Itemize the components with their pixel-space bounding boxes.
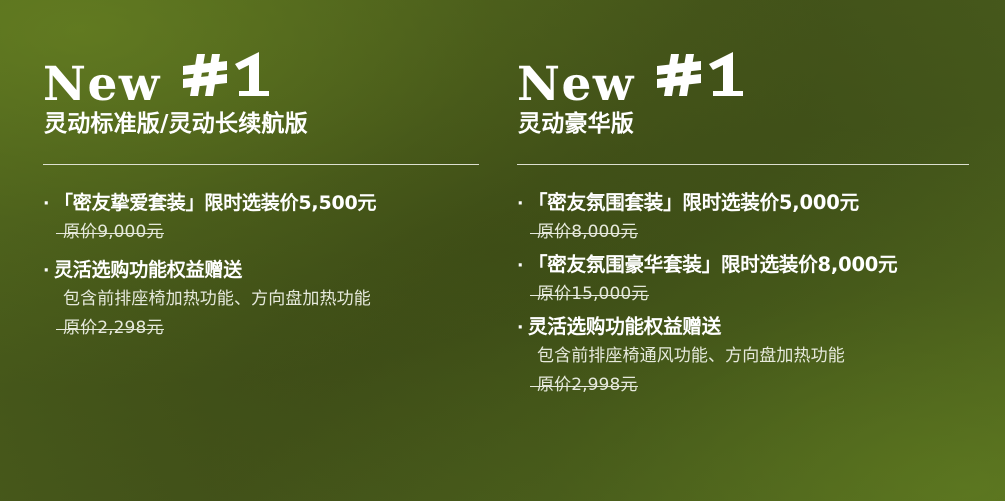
original-price-text: 原价9,000元: [63, 218, 163, 247]
offer-list: · 「密友挚爱套装」限时选装价5,500元 原价9,000元 · 灵活选购功能权…: [43, 189, 483, 345]
offer-original-price: 原价8,000元: [517, 218, 972, 247]
offer-headline: 「密友氛围豪华套装」限时选装价8,000元: [528, 251, 897, 279]
rank-hash-one-icon: [657, 50, 745, 100]
bullet-marker: ·: [517, 190, 528, 218]
offer-original-price: 原价9,000元: [43, 218, 483, 247]
new-badge-label: New: [517, 61, 635, 108]
offer-list: · 「密友氛围套装」限时选装价5,000元 原价8,000元 · 「密友氛围豪华…: [517, 189, 972, 402]
offer-headline-row: · 灵活选购功能权益赠送: [517, 313, 972, 342]
title-divider: [517, 164, 969, 165]
offer-original-price: 原价2,998元: [517, 371, 972, 400]
list-item: · 「密友挚爱套装」限时选装价5,500元 原价9,000元: [43, 189, 483, 247]
offer-headline-row: · 灵活选购功能权益赠送: [43, 256, 483, 285]
offer-headline: 「密友挚爱套装」限时选装价5,500元: [54, 189, 376, 217]
original-price-text: 原价2,998元: [537, 371, 637, 400]
offer-detail: 包含前排座椅加热功能、方向盘加热功能: [43, 285, 483, 314]
rank-hash-one-icon: [183, 50, 271, 100]
bullet-marker: ·: [43, 190, 54, 218]
column-title: New: [517, 50, 745, 108]
bullet-marker: ·: [517, 252, 528, 280]
offer-headline: 灵活选购功能权益赠送: [528, 313, 721, 341]
offer-headline: 灵活选购功能权益赠送: [54, 256, 242, 284]
original-price-text: 原价2,298元: [63, 314, 163, 343]
offer-original-price: 原价15,000元: [517, 280, 972, 309]
column-subtitle: 灵动豪华版: [518, 110, 634, 139]
promo-panel: New 灵动标准版/灵动长续航版 ·: [0, 0, 1005, 501]
new-badge-label: New: [43, 61, 161, 108]
original-price-text: 原价15,000元: [537, 280, 648, 309]
offer-original-price: 原价2,298元: [43, 314, 483, 343]
offer-headline-row: · 「密友氛围豪华套装」限时选装价8,000元: [517, 251, 972, 280]
offer-headline: 「密友氛围套装」限时选装价5,000元: [528, 189, 859, 217]
offer-headline-row: · 「密友氛围套装」限时选装价5,000元: [517, 189, 972, 218]
list-item: · 灵活选购功能权益赠送 包含前排座椅加热功能、方向盘加热功能 原价2,298元: [43, 256, 483, 343]
offer-detail: 包含前排座椅通风功能、方向盘加热功能: [517, 342, 972, 371]
column-title: New: [43, 50, 271, 108]
offer-headline-row: · 「密友挚爱套装」限时选装价5,500元: [43, 189, 483, 218]
title-divider: [43, 164, 479, 165]
column-subtitle: 灵动标准版/灵动长续航版: [44, 110, 308, 139]
bullet-marker: ·: [517, 314, 528, 342]
bullet-marker: ·: [43, 257, 54, 285]
list-item: · 「密友氛围套装」限时选装价5,000元 原价8,000元: [517, 189, 972, 247]
original-price-text: 原价8,000元: [537, 218, 637, 247]
list-item: · 灵活选购功能权益赠送 包含前排座椅通风功能、方向盘加热功能 原价2,998元: [517, 313, 972, 400]
list-item: · 「密友氛围豪华套装」限时选装价8,000元 原价15,000元: [517, 251, 972, 309]
